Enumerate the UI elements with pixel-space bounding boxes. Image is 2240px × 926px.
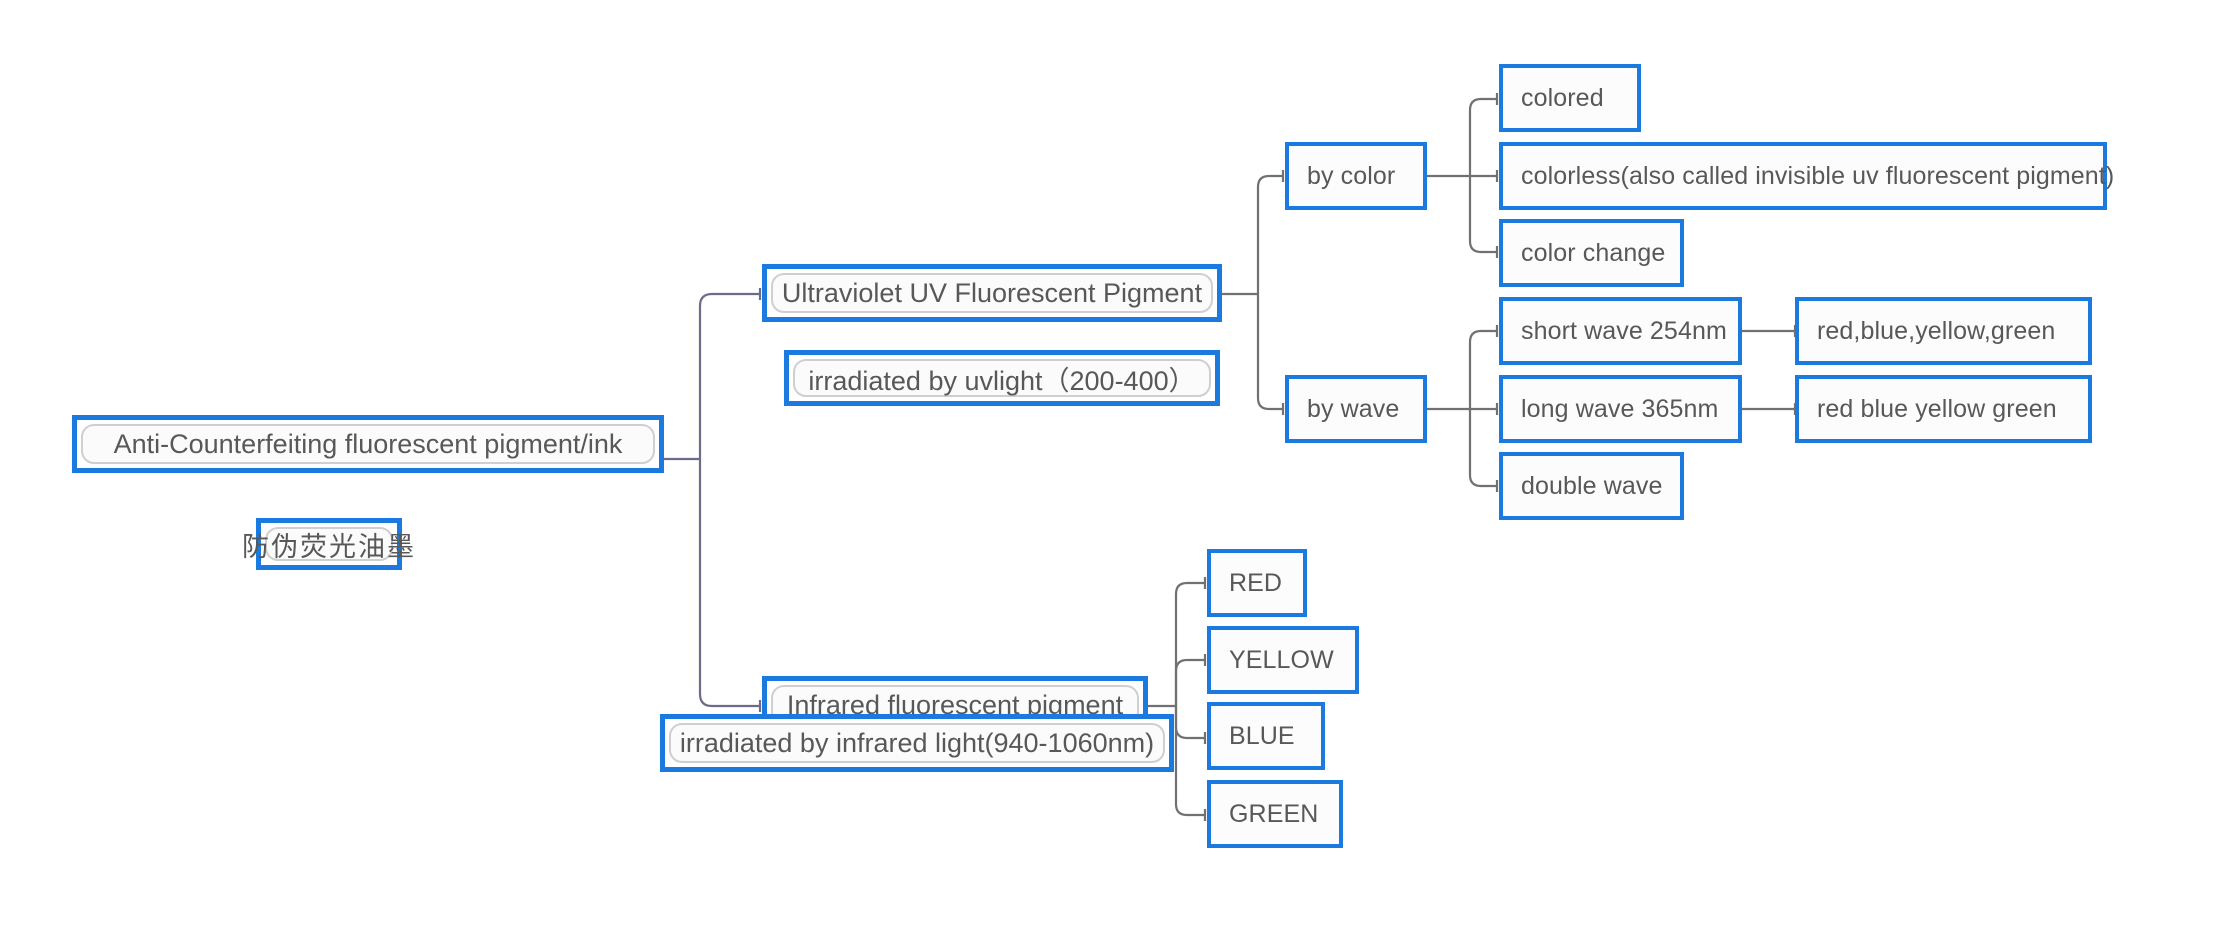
link-bywave-double <box>1470 409 1497 486</box>
node-color-change-label: color change <box>1503 239 1665 268</box>
link-ir-red <box>1176 583 1205 706</box>
node-ir-green[interactable]: GREEN <box>1207 780 1343 848</box>
node-color-change[interactable]: color change <box>1499 219 1684 287</box>
node-by-wave-label: by wave <box>1289 395 1399 424</box>
link-root-infrared <box>700 459 760 706</box>
node-colored[interactable]: colored <box>1499 64 1641 132</box>
node-root-inner: Anti-Counterfeiting fluorescent pigment/… <box>81 424 655 464</box>
node-root-chinese-label: 防伪荧光油墨 <box>242 525 416 564</box>
node-uv-pigment-inner: Ultraviolet UV Fluorescent Pigment <box>771 273 1213 313</box>
node-root[interactable]: Anti-Counterfeiting fluorescent pigment/… <box>72 415 664 473</box>
node-double-wave[interactable]: double wave <box>1499 452 1684 520</box>
node-ir-green-label: GREEN <box>1211 800 1318 829</box>
node-by-color-label: by color <box>1289 162 1395 191</box>
node-ir-red[interactable]: RED <box>1207 549 1307 617</box>
link-uv-bywave <box>1258 294 1283 409</box>
node-uv-note[interactable]: irradiated by uvlight（200-400） <box>784 350 1220 406</box>
link-ir-yellow <box>1176 660 1205 706</box>
node-infrared-note[interactable]: irradiated by infrared light(940-1060nm) <box>660 714 1174 772</box>
node-double-wave-label: double wave <box>1503 472 1662 501</box>
node-uv-pigment[interactable]: Ultraviolet UV Fluorescent Pigment <box>762 264 1222 322</box>
node-short-wave-colors[interactable]: red,blue,yellow,green <box>1795 297 2092 365</box>
node-long-wave[interactable]: long wave 365nm <box>1499 375 1742 443</box>
node-root-chinese-inner: 防伪荧光油墨 <box>265 527 393 561</box>
node-short-wave-label: short wave 254nm <box>1503 317 1727 346</box>
node-ir-blue[interactable]: BLUE <box>1207 702 1325 770</box>
node-colorless[interactable]: colorless(also called invisible uv fluor… <box>1499 142 2107 210</box>
node-uv-pigment-label: Ultraviolet UV Fluorescent Pigment <box>782 278 1202 309</box>
node-root-chinese[interactable]: 防伪荧光油墨 <box>256 518 402 570</box>
node-root-label: Anti-Counterfeiting fluorescent pigment/… <box>114 429 623 460</box>
node-short-wave-colors-label: red,blue,yellow,green <box>1799 317 2055 346</box>
link-root-uv <box>700 294 760 459</box>
node-uv-note-inner: irradiated by uvlight（200-400） <box>793 359 1211 397</box>
node-by-color[interactable]: by color <box>1285 142 1427 210</box>
node-colorless-label: colorless(also called invisible uv fluor… <box>1503 162 2114 191</box>
node-uv-note-label: irradiated by uvlight（200-400） <box>808 359 1195 398</box>
node-short-wave[interactable]: short wave 254nm <box>1499 297 1742 365</box>
link-bywave-short <box>1470 331 1497 409</box>
node-long-wave-label: long wave 365nm <box>1503 395 1718 424</box>
node-long-wave-colors[interactable]: red blue yellow green <box>1795 375 2092 443</box>
node-by-wave[interactable]: by wave <box>1285 375 1427 443</box>
node-ir-yellow[interactable]: YELLOW <box>1207 626 1359 694</box>
node-ir-blue-label: BLUE <box>1211 722 1295 751</box>
node-infrared-note-label: irradiated by infrared light(940-1060nm) <box>680 728 1154 759</box>
mindmap-canvas: Anti-Counterfeiting fluorescent pigment/… <box>0 0 2240 926</box>
node-ir-red-label: RED <box>1211 569 1282 598</box>
link-ir-green <box>1176 706 1205 815</box>
link-bycolor-colorchange <box>1470 176 1497 252</box>
node-ir-yellow-label: YELLOW <box>1211 646 1334 675</box>
node-infrared-note-inner: irradiated by infrared light(940-1060nm) <box>669 723 1165 763</box>
link-uv-bycolor <box>1258 176 1283 294</box>
link-ir-blue <box>1176 706 1205 738</box>
link-bycolor-colored <box>1470 99 1497 176</box>
node-long-wave-colors-label: red blue yellow green <box>1799 395 2057 424</box>
node-colored-label: colored <box>1503 84 1604 113</box>
